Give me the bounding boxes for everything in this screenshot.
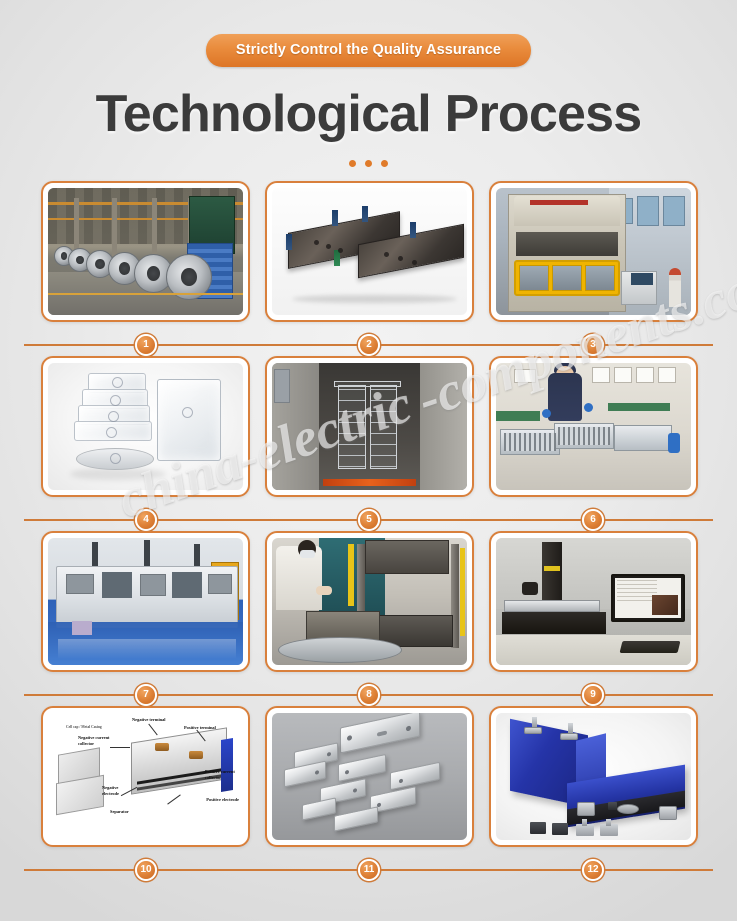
separator-dot [381,160,388,167]
diagram-caption: Cell cap / Metal Casing [66,725,102,729]
process-row: Cell cap / Metal Casing Negative termina… [0,706,737,881]
photo-automated-production-line [48,538,243,665]
process-row: 1 2 3 [0,181,737,356]
diagram-label-positive-terminal: Positive terminal [184,725,216,731]
step-badge-3[interactable]: 3 [582,334,604,356]
page-header: Strictly Control the Quality Assurance T… [0,0,737,167]
process-grid: 1 2 3 [0,181,737,881]
diagram-label-negative-terminal: Negative terminal [132,717,166,723]
separator-dot [349,160,356,167]
diagram-label-negative-electrode: Negative electrode [102,785,132,796]
diagram-label-separator: Separator [110,809,129,815]
step-badge-1[interactable]: 1 [135,334,157,356]
step-badge-7[interactable]: 7 [135,684,157,706]
step-badge-10[interactable]: 10 [135,859,157,881]
process-step-card-7[interactable] [41,531,250,672]
photo-blue-prismatic-battery-cells [496,713,691,840]
step-connector-row-2: 4 5 6 [0,509,737,531]
process-step-card-5[interactable] [265,356,474,497]
step-badge-6[interactable]: 6 [582,509,604,531]
step-badge-4[interactable]: 4 [135,509,157,531]
step-connector-row-1: 1 2 3 [0,334,737,356]
photo-industrial-oven-racks [272,363,467,490]
process-step-card-8[interactable] [265,531,474,672]
dot-separator [0,160,737,167]
photo-stamping-press-machine [496,188,691,315]
process-step-card-4[interactable] [41,356,250,497]
page-title: Technological Process [0,84,737,144]
process-step-card-11[interactable] [265,706,474,847]
process-step-card-2[interactable] [265,181,474,322]
process-step-card-10[interactable]: Cell cap / Metal Casing Negative termina… [41,706,250,847]
process-row: 4 5 6 [0,356,737,531]
step-connector-row-4: 10 11 12 [0,859,737,881]
photo-battery-cell-diagram: Cell cap / Metal Casing Negative termina… [48,713,243,840]
step-badge-8[interactable]: 8 [358,684,380,706]
step-badge-5[interactable]: 5 [358,509,380,531]
process-step-card-9[interactable] [489,531,698,672]
process-row: 7 8 9 [0,531,737,706]
diagram-label-negative-current-collector: Negative current collector [78,735,112,746]
diagram-label-positive-electrode: Positive electrode [206,797,239,803]
step-badge-9[interactable]: 9 [582,684,604,706]
photo-stamping-dies [272,188,467,315]
photo-coordinate-measuring-machine [496,538,691,665]
diagram-label-positive-current-collector: Positive current collector [205,769,241,780]
subtitle-ribbon: Strictly Control the Quality Assurance [206,34,531,67]
process-step-card-12[interactable] [489,706,698,847]
step-connector-row-3: 7 8 9 [0,684,737,706]
photo-clear-plastic-packaging-bags [48,363,243,490]
photo-hydraulic-press-operator [272,538,467,665]
step-badge-12[interactable]: 12 [582,859,604,881]
process-step-card-1[interactable] [41,181,250,322]
step-badge-11[interactable]: 11 [358,859,380,881]
photo-worker-inspecting-parts [496,363,691,490]
photo-aluminum-battery-covers [272,713,467,840]
process-step-card-3[interactable] [489,181,698,322]
step-badge-2[interactable]: 2 [358,334,380,356]
photo-steel-coil-warehouse [48,188,243,315]
process-step-card-6[interactable] [489,356,698,497]
separator-dot [365,160,372,167]
